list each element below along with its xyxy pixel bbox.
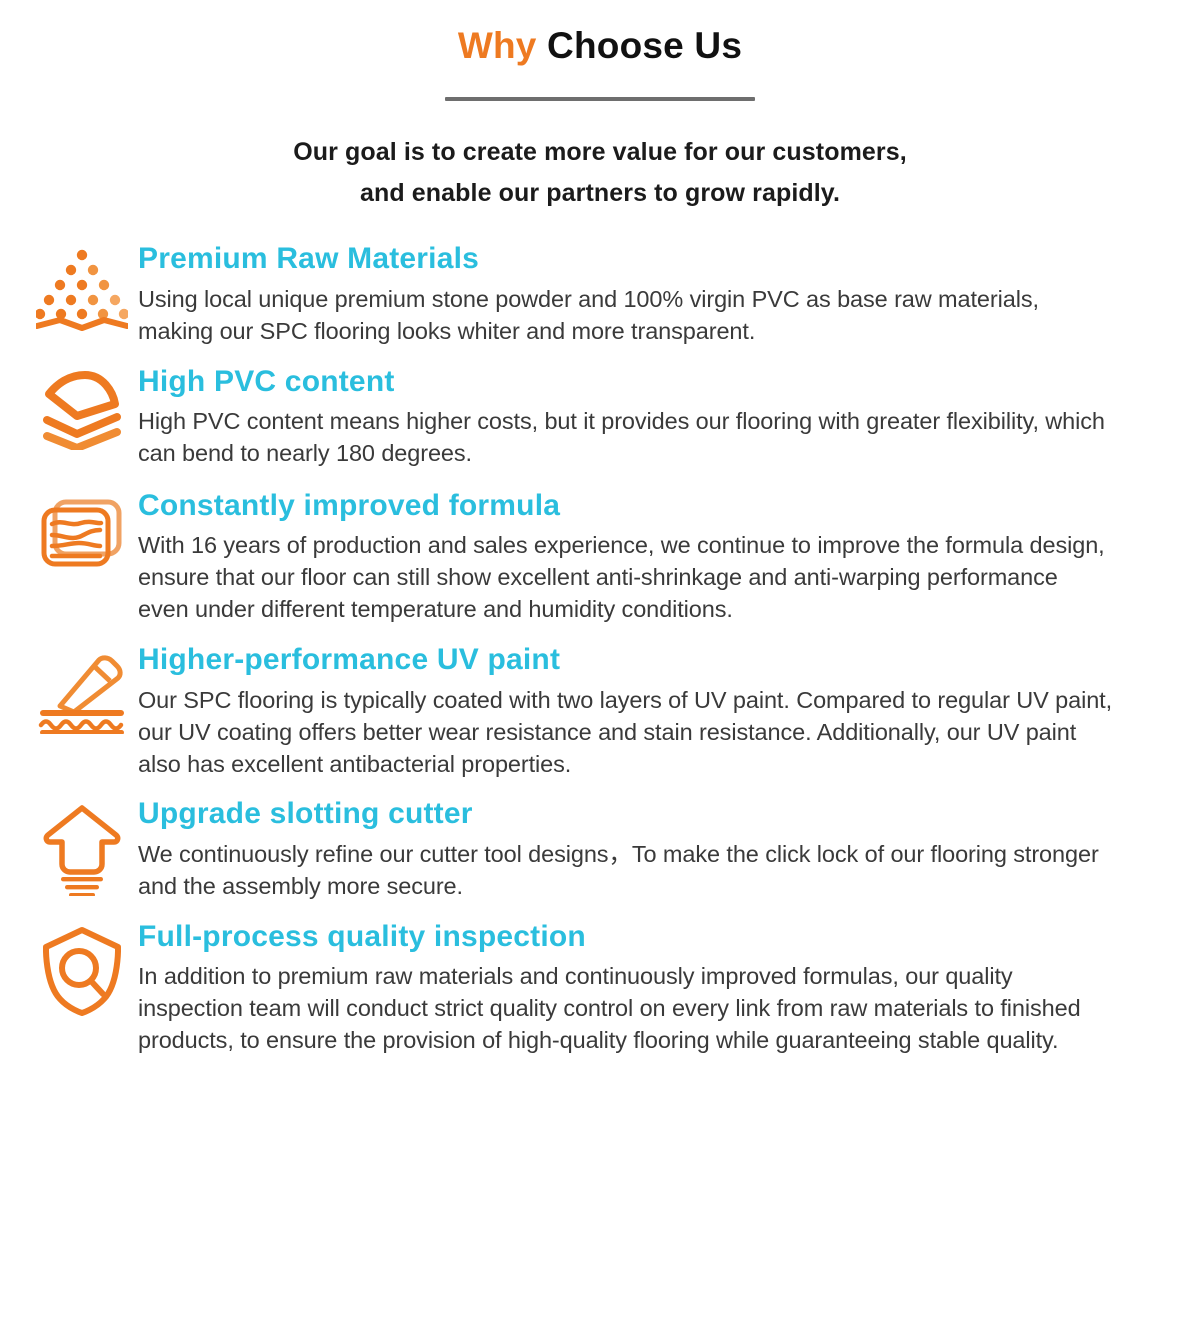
- title-divider: [445, 97, 755, 101]
- feature-body: Premium Raw Materials Using local unique…: [138, 241, 1174, 347]
- page-subtitle-line-1: Our goal is to create more value for our…: [0, 132, 1200, 173]
- feature-body: Upgrade slotting cutter We continuously …: [138, 796, 1174, 902]
- feature-title: Full-process quality inspection: [138, 919, 1174, 954]
- feature-title: Premium Raw Materials: [138, 241, 1174, 276]
- feature-text: Using local unique premium stone powder …: [138, 284, 1174, 348]
- feature-item: Upgrade slotting cutter We continuously …: [26, 796, 1174, 902]
- page-title-rest: Choose Us: [537, 25, 743, 66]
- feature-body: Constantly improved formula With 16 year…: [138, 488, 1174, 626]
- feature-text: High PVC content means higher costs, but…: [138, 406, 1174, 470]
- feature-text: With 16 years of production and sales ex…: [138, 530, 1174, 626]
- feature-item: Constantly improved formula With 16 year…: [26, 488, 1174, 626]
- layer-stack-icon: [26, 364, 138, 460]
- shield-magnifier-icon: [26, 919, 138, 1015]
- feature-text: Our SPC flooring is typically coated wit…: [138, 685, 1174, 781]
- feature-item: Premium Raw Materials Using local unique…: [26, 241, 1174, 347]
- feature-body: High PVC content High PVC content means …: [138, 364, 1174, 470]
- page-title: Why Choose Us: [0, 24, 1200, 68]
- feature-item: Higher-performance UV paint Our SPC floo…: [26, 642, 1174, 780]
- feature-text: We continuously refine our cutter tool d…: [138, 839, 1174, 903]
- feature-title: High PVC content: [138, 364, 1174, 399]
- feature-text: In addition to premium raw materials and…: [138, 961, 1174, 1057]
- why-choose-us-page: Why Choose Us Our goal is to create more…: [0, 0, 1200, 1334]
- feature-item: High PVC content High PVC content means …: [26, 364, 1174, 470]
- page-subtitle: Our goal is to create more value for our…: [0, 132, 1200, 213]
- feature-title: Constantly improved formula: [138, 488, 1174, 523]
- uv-paint-brush-icon: [26, 642, 138, 738]
- page-header: Why Choose Us Our goal is to create more…: [0, 0, 1200, 213]
- feature-item: Full-process quality inspection In addit…: [26, 919, 1174, 1057]
- page-subtitle-line-2: and enable our partners to grow rapidly.: [0, 173, 1200, 214]
- feature-body: Higher-performance UV paint Our SPC floo…: [138, 642, 1174, 780]
- feature-title: Upgrade slotting cutter: [138, 796, 1174, 831]
- feature-list: Premium Raw Materials Using local unique…: [0, 241, 1200, 1057]
- stone-powder-icon: [26, 241, 138, 337]
- upgrade-arrow-icon: [26, 796, 138, 892]
- page-title-accent: Why: [458, 25, 537, 66]
- feature-body: Full-process quality inspection In addit…: [138, 919, 1174, 1057]
- feature-title: Higher-performance UV paint: [138, 642, 1174, 677]
- wood-grain-plank-icon: [26, 488, 138, 584]
